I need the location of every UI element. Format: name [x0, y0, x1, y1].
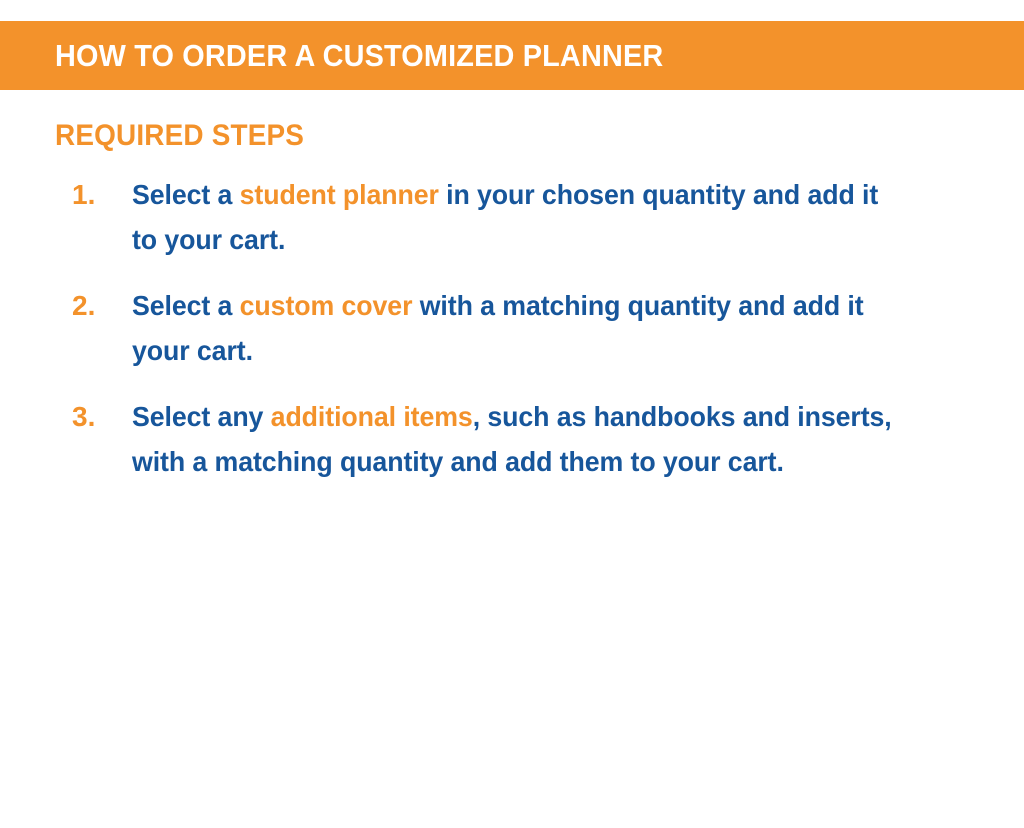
highlighted-phrase: student planner: [240, 179, 439, 210]
page-title: HOW TO ORDER A CUSTOMIZED PLANNER: [55, 40, 663, 71]
header-banner: HOW TO ORDER A CUSTOMIZED PLANNER: [0, 21, 1024, 90]
step-number: 1.: [60, 172, 132, 217]
highlighted-phrase: custom cover: [240, 290, 413, 321]
required-steps-list: 1. Select a student planner in your chos…: [60, 172, 990, 484]
page-root: HOW TO ORDER A CUSTOMIZED PLANNER REQUIR…: [0, 0, 1024, 828]
step-text-run: Select a: [132, 290, 240, 321]
step-text: Select any additional items, such as han…: [132, 394, 901, 484]
step-number: 2.: [60, 283, 132, 328]
step-text-run: Select any: [132, 401, 271, 432]
step-text-run: Select a: [132, 179, 240, 210]
list-item: 3. Select any additional items, such as …: [60, 394, 990, 484]
step-text: Select a custom cover with a matching qu…: [132, 283, 901, 373]
list-item: 2. Select a custom cover with a matching…: [60, 283, 990, 373]
section-heading-required-steps: REQUIRED STEPS: [55, 119, 304, 152]
step-number: 3.: [60, 394, 132, 439]
highlighted-phrase: additional items: [271, 401, 473, 432]
list-item: 1. Select a student planner in your chos…: [60, 172, 990, 262]
step-text: Select a student planner in your chosen …: [132, 172, 901, 262]
